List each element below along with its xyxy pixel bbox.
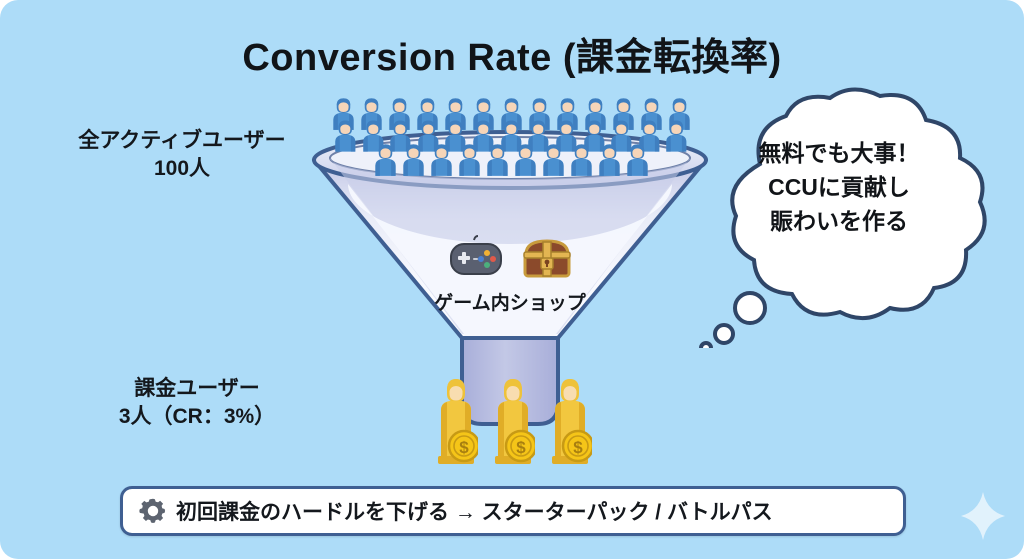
- svg-text:$: $: [573, 438, 583, 457]
- thought-bubble-dot-medium: [715, 325, 733, 343]
- shop-label: ゲーム内ショップ: [308, 288, 712, 315]
- thought-line-1: 無料でも大事！: [714, 136, 964, 170]
- label-paying-users-line1: 課金ユーザー: [134, 377, 260, 400]
- thought-bubble-text: 無料でも大事！ CCUに貢献し 賑わいを作る: [714, 136, 964, 238]
- label-active-users-line2: 100人: [52, 155, 312, 183]
- svg-text:$: $: [516, 438, 526, 457]
- label-paying-users-line2: 3人（CR：3%）: [72, 403, 322, 431]
- paying-user-group: $$$: [434, 374, 592, 469]
- label-active-users-line1: 全アクティブユーザー: [78, 129, 285, 152]
- paying-user: $: [548, 374, 592, 469]
- infographic-canvas: Conversion Rate (課金転換率) 全アクティブユーザー 100人 …: [0, 0, 1024, 559]
- bottom-callout-text: 初回課金のハードルを下げる → スターターパック / バトルパス: [176, 496, 773, 526]
- label-active-users: 全アクティブユーザー 100人: [52, 127, 312, 184]
- thought-bubble-dot-small: [701, 343, 711, 348]
- gamepad-icon: [447, 235, 505, 281]
- thought-line-2: CCUに貢献し: [714, 170, 964, 204]
- sparkle-icon: [960, 491, 1006, 541]
- page-title: Conversion Rate (課金転換率): [0, 26, 1024, 81]
- thought-line-3: 賑わいを作る: [714, 204, 964, 238]
- paying-user: $: [491, 374, 535, 469]
- bottom-callout-bar[interactable]: 初回課金のハードルを下げる → スターターパック / バトルパス: [120, 486, 906, 536]
- treasure-chest-icon: [521, 234, 573, 282]
- funnel-rim-inner: [330, 137, 690, 179]
- thought-bubble-dot-large: [735, 293, 765, 323]
- gear-icon: [139, 497, 167, 525]
- label-paying-users: 課金ユーザー 3人（CR：3%）: [72, 375, 322, 432]
- svg-text:$: $: [459, 438, 469, 457]
- paying-user: $: [434, 374, 478, 469]
